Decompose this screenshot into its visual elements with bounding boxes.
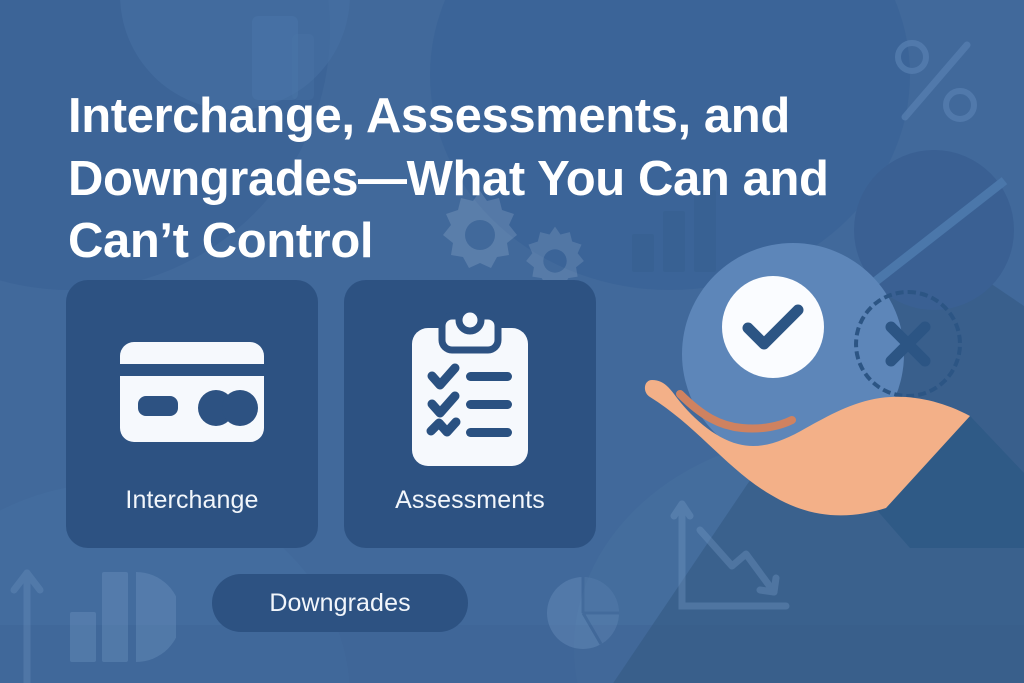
card-interchange[interactable]: Interchange <box>66 280 318 548</box>
arrow-up-icon <box>0 567 62 683</box>
card-assessments[interactable]: Assessments <box>344 280 596 548</box>
pill-downgrades[interactable]: Downgrades <box>212 574 468 632</box>
bar-pie-icon <box>68 570 176 662</box>
credit-card-icon-wrap <box>112 322 272 462</box>
clipboard-checklist-icon-wrap <box>404 322 536 462</box>
hand-holding-check-and-x-illustration <box>640 230 1024 683</box>
credit-card-icon <box>112 334 272 450</box>
pill-label-downgrades: Downgrades <box>269 589 410 618</box>
clipboard-checklist-icon <box>404 312 536 472</box>
checkmark-icon <box>742 303 804 351</box>
card-label-interchange: Interchange <box>125 486 258 515</box>
open-palm-hand-icon <box>640 358 1024 548</box>
pie-chart-icon <box>545 575 621 651</box>
card-label-assessments: Assessments <box>395 486 545 515</box>
hero-banner: Interchange, Assessments, and Downgrades… <box>0 0 1024 683</box>
